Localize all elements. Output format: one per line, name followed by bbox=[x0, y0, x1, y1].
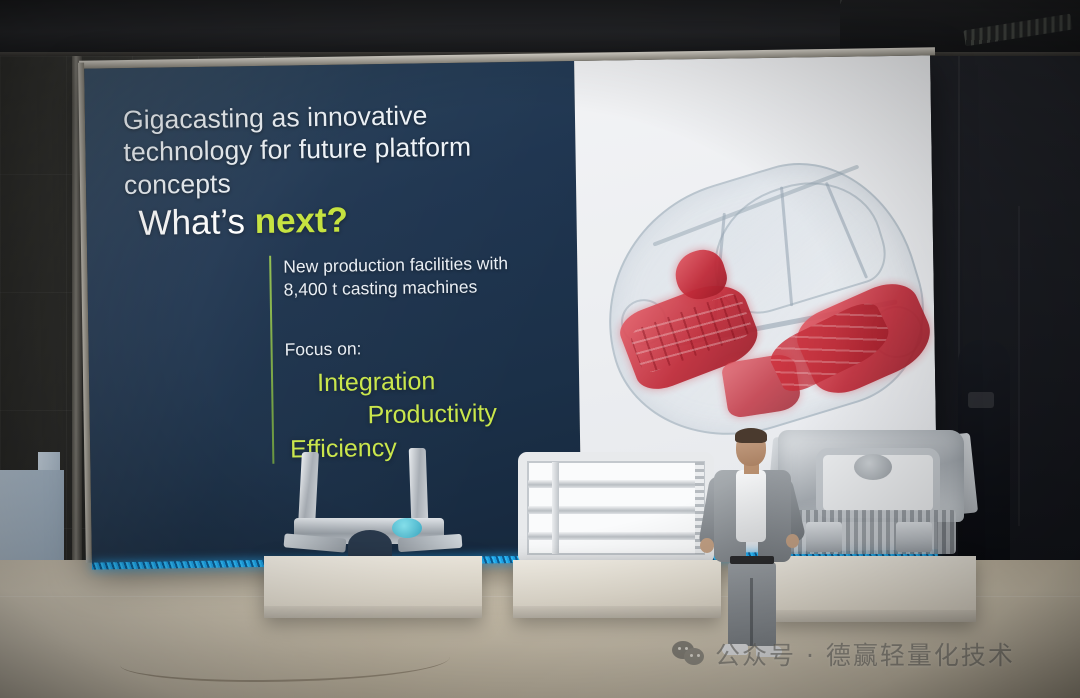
pedestal-center bbox=[513, 560, 721, 618]
rear-casting-pad-right bbox=[896, 522, 932, 552]
wechat-icon bbox=[672, 641, 706, 667]
casting-teal-highlight bbox=[392, 518, 422, 538]
exhibit-battery-tray-casting bbox=[518, 452, 714, 564]
slide-title: Gigacasting as innovative technology for… bbox=[123, 97, 564, 201]
rear-casting-boss bbox=[854, 454, 892, 480]
presenter-hand-right bbox=[786, 534, 799, 548]
casting-post-left bbox=[298, 452, 319, 526]
presentation-stage-scene: Gigacasting as innovative technology for… bbox=[0, 0, 1080, 698]
presenter bbox=[706, 430, 802, 662]
watermark: 公众号 · 德赢轻量化技术 bbox=[672, 636, 1015, 672]
accent-vertical-rule bbox=[269, 256, 274, 464]
focus-item-integration: Integration bbox=[317, 367, 436, 398]
focus-label: Focus on: bbox=[284, 338, 361, 360]
tray-longitudinal-rib bbox=[552, 462, 559, 554]
presenter-trousers bbox=[728, 562, 776, 646]
presenter-hand-left bbox=[700, 538, 714, 553]
presenter-belt bbox=[730, 556, 774, 564]
pedestal-left bbox=[264, 556, 482, 618]
headline-accent: next? bbox=[254, 201, 348, 241]
rear-casting-pad-left bbox=[806, 522, 842, 552]
slide-headline: What’s next? bbox=[138, 201, 348, 244]
focus-item-productivity: Productivity bbox=[367, 399, 497, 430]
exhibit-front-structure-casting bbox=[288, 452, 458, 560]
presenter-shirt bbox=[736, 470, 766, 542]
casting-post-right bbox=[409, 448, 429, 522]
slide-bullet-text: New production facilities with 8,400 t c… bbox=[283, 251, 544, 302]
bench-seat bbox=[0, 470, 64, 562]
headline-prefix: What’s bbox=[138, 202, 255, 243]
presenter-hair bbox=[735, 428, 767, 443]
vehicle-body-render bbox=[574, 136, 937, 467]
watermark-text: 公众号 · 德赢轻量化技术 bbox=[715, 636, 1015, 672]
